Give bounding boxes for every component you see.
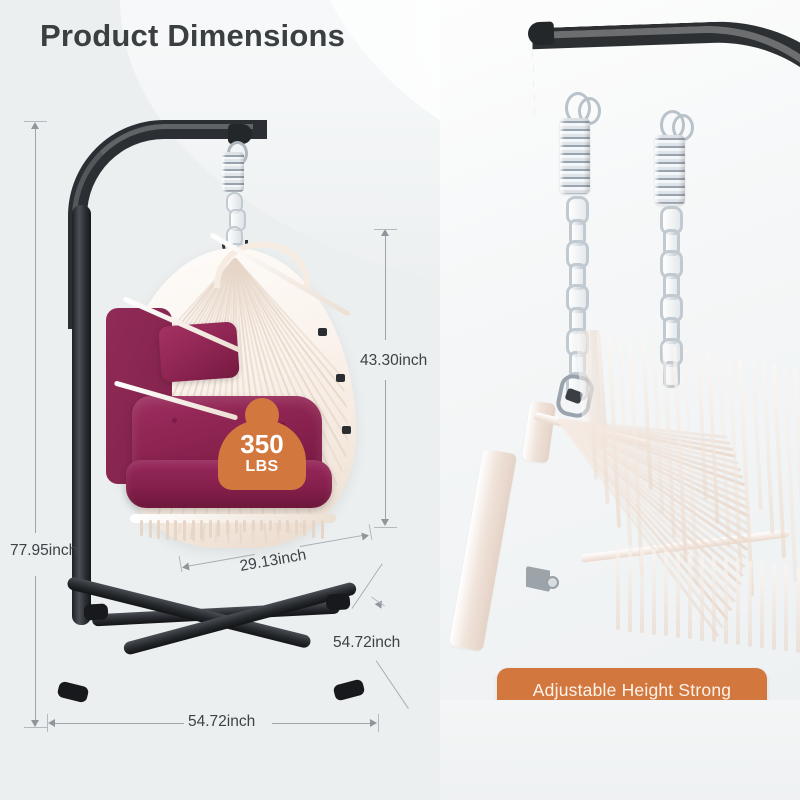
dim-tick-overall-height-top — [24, 121, 47, 122]
stand-arm-end-cap — [528, 22, 555, 46]
wicker-lower-strand — [712, 556, 716, 642]
wicker-vertical-strand — [751, 360, 763, 510]
dim-arrow-base-width-right — [370, 719, 377, 727]
chair-base-strand — [209, 520, 212, 538]
weight-value: 350 — [218, 431, 306, 458]
dim-line-base-width-left — [52, 723, 184, 724]
weight-capacity-badge: 350 LBS — [218, 398, 306, 490]
suspension-spring-right — [655, 135, 685, 205]
dim-tick-base-width-left — [47, 714, 48, 732]
wicker-lower-strand — [700, 555, 704, 641]
stand-upright-post — [72, 205, 91, 625]
chair-base-strand — [321, 520, 324, 539]
wicker-lower-strand — [688, 553, 692, 639]
hanger-spring — [222, 152, 244, 192]
chair-base-strand — [157, 520, 160, 539]
dim-arrow-overall-height-top — [31, 122, 39, 129]
chair-base-strand — [183, 520, 186, 541]
wicker-lower-strand — [748, 561, 752, 647]
chair-base-strand — [235, 520, 238, 533]
caption-line-1: Adjustable Height Strong — [533, 680, 731, 700]
caption-banner: Adjustable Height Strong Suspension Chai… — [497, 668, 767, 700]
base-foot-right — [332, 678, 365, 701]
dim-tick-overall-height-bottom — [24, 727, 47, 728]
weight-unit: LBS — [218, 458, 306, 475]
dim-label-base-depth: 54.72inch — [333, 634, 400, 652]
wicker-lower-strand — [664, 550, 668, 636]
product-illustration: 350 LBS — [0, 0, 440, 800]
wicker-lower-strand — [640, 547, 644, 633]
dim-tick-base-width-right — [378, 714, 379, 732]
wicker-lower-strand — [772, 564, 776, 650]
chair-base-strand — [226, 520, 229, 535]
dim-arrow-overall-height-bottom — [31, 720, 39, 727]
dim-line-overall-height-lower — [35, 576, 36, 726]
suspension-chain-photo: Adjustable Height Strong Suspension Chai… — [440, 0, 800, 700]
chair-base-strand — [252, 520, 255, 531]
chair-base-strand — [312, 520, 315, 538]
chair-base-strand — [243, 520, 246, 532]
dim-label-base-width: 54.72inch — [188, 713, 255, 731]
wicker-lower-strand — [760, 562, 764, 648]
chair-base-strand — [140, 520, 143, 536]
wicker-lower-strand — [724, 558, 728, 644]
chair-base-strand — [174, 520, 177, 541]
chair-base-strand — [295, 520, 298, 535]
infographic-canvas: Adjustable Height Strong Suspension Chai… — [0, 0, 800, 800]
dim-arrow-chair-height-top — [381, 229, 389, 236]
wicker-lower-strand — [652, 549, 656, 635]
chair-clip-3 — [342, 426, 351, 434]
person-head-icon — [245, 398, 279, 432]
wicker-post-left — [449, 449, 517, 652]
dim-label-overall-height: 77.95inch — [10, 542, 77, 560]
wicker-lower-strand — [796, 567, 800, 653]
chair-base-strand — [200, 520, 203, 540]
dim-arrow-base-width-left — [48, 719, 55, 727]
chair-base-strand — [192, 520, 195, 541]
suspension-spring-left — [560, 118, 590, 194]
chair-base-strand — [269, 520, 272, 531]
base-foot-left — [57, 681, 90, 704]
wicker-lower-strand — [784, 565, 788, 651]
chair-base-strand — [286, 520, 289, 533]
chair-base-strand — [303, 520, 306, 536]
base-foot-back-left — [84, 603, 109, 620]
dim-line-chair-height-lower — [385, 380, 386, 524]
dim-line-base-width-right — [272, 723, 374, 724]
chair-base-strand — [278, 520, 281, 532]
dim-label-chair-height: 43.30inch — [360, 352, 427, 370]
dim-arrow-chair-width-left — [181, 562, 189, 571]
wicker-lower-strand — [628, 546, 632, 632]
chair-base-strand — [217, 520, 220, 537]
chair-clip-1 — [318, 328, 327, 336]
chair-clip-2 — [336, 374, 345, 382]
wicker-lower-strand — [616, 544, 620, 630]
base-foot-back-right — [326, 593, 351, 610]
dim-arrow-chair-width-right — [361, 531, 369, 540]
dim-arrow-chair-height-bottom — [381, 519, 389, 526]
caption-text: Adjustable Height Strong Suspension Chai… — [533, 678, 731, 700]
wicker-lower-strand — [736, 559, 740, 645]
chair-base-strand — [149, 520, 152, 538]
dim-tick-chair-height-bottom — [374, 527, 397, 528]
wicker-post-top — [522, 400, 556, 463]
chair-base-strand — [260, 520, 263, 531]
chair-base-strand — [166, 520, 169, 540]
wicker-lower-strand — [676, 552, 680, 638]
dim-tick-chair-height-top — [374, 229, 397, 230]
dim-line-chair-height-upper — [385, 232, 386, 340]
wicker-frame-closeup — [440, 330, 800, 670]
bracket-bolt — [546, 576, 559, 589]
dim-line-overall-height-upper — [35, 126, 36, 533]
